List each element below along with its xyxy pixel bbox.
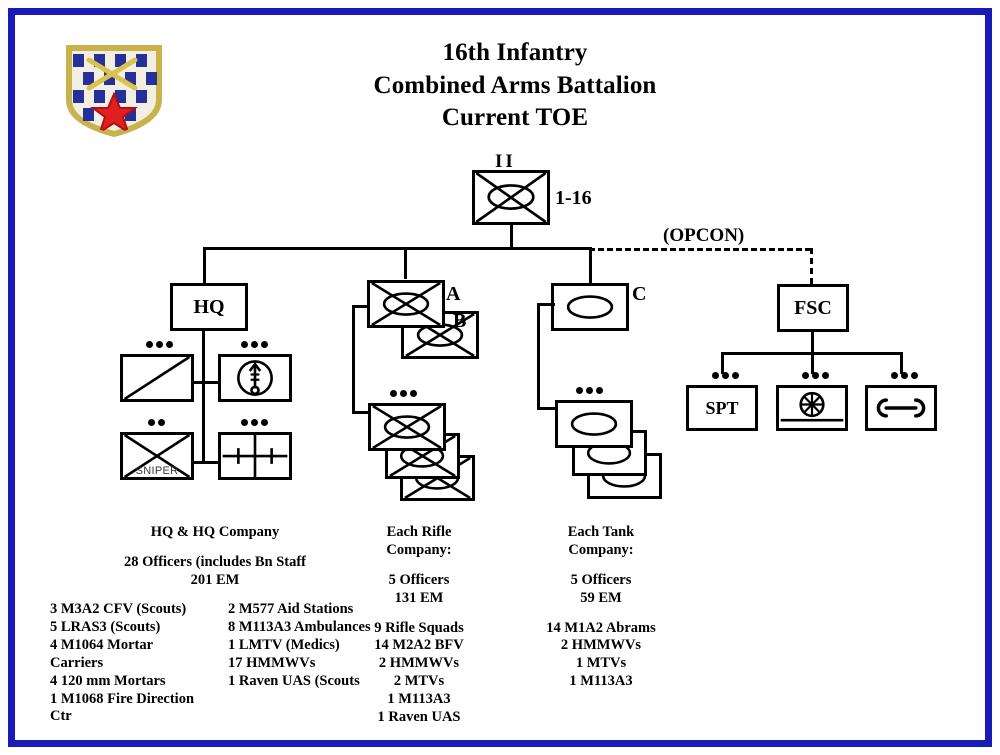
tank-company-c-label: C [632, 283, 646, 306]
list-item: 5 LRAS3 (Scouts) [50, 619, 202, 637]
list-item: 14 M2A2 BFV [355, 637, 483, 655]
dots-sniper-section [148, 419, 165, 426]
rifle-equipment-list: 9 Rifle Squads 14 M2A2 BFV 2 HMMWVs 2 MT… [355, 620, 483, 727]
dots-maintenance-platoon [891, 372, 918, 379]
list-item: 2 MTVs [355, 673, 483, 691]
dots-tank-platoons [576, 387, 603, 394]
support-platoon-label: SPT [689, 388, 755, 428]
connector-opcon-horizontal [589, 248, 811, 251]
rifle-company-b-label: B [453, 310, 466, 333]
tank-company-c-symbol [551, 283, 629, 331]
list-item: 14 M1A2 Abrams [537, 620, 665, 638]
rifle-heading-line-2: Company: [355, 541, 483, 559]
opcon-label: (OPCON) [663, 225, 744, 247]
connector-tank-tick-top [537, 303, 555, 306]
connector-opcon-vertical [810, 248, 813, 284]
tank-platoon-symbol-1 [555, 400, 633, 448]
connector-fsc-drop-1 [721, 352, 724, 374]
list-item: 1 M113A3 [537, 673, 665, 691]
dots-mortar-platoon [241, 341, 268, 348]
battalion-symbol [472, 170, 550, 225]
connector-rifle-spine [352, 305, 355, 413]
dots-signal-section [241, 419, 268, 426]
connector-hq-spine [202, 331, 205, 463]
hq-text-strength: 28 Officers (includes Bn Staff 201 EM [50, 553, 380, 589]
fsc-box: FSC [777, 284, 849, 332]
connector-drop-hq [203, 247, 206, 283]
list-item: 3 M3A2 CFV (Scouts) [50, 601, 202, 619]
dots-transportation-platoon [802, 372, 829, 379]
hq-company-label: HQ [173, 286, 245, 328]
sniper-label: SNIPER [123, 465, 191, 477]
page-title: 16th Infantry Combined Arms Battalion Cu… [285, 37, 745, 135]
rifle-em: 131 EM [355, 589, 483, 607]
list-item: 4 120 mm Mortars [50, 673, 202, 691]
hq-text-heading: HQ & HQ Company [50, 523, 380, 541]
rifle-heading-line-1: Each Rifle [355, 523, 483, 541]
diagram-sheet: 16th Infantry Combined Arms Battalion Cu… [15, 15, 985, 740]
list-item: 1 M1068 Fire Direction Ctr [50, 691, 202, 727]
signal-section-symbol [218, 432, 292, 480]
connector-root-stem [510, 225, 513, 248]
rifle-text-block: Each Rifle Company: 5 Officers 131 EM 9 … [355, 523, 483, 726]
battalion-designation: 1-16 [555, 187, 592, 210]
mortar-platoon-symbol [218, 354, 292, 402]
maintenance-platoon-symbol [865, 385, 937, 431]
unit-insignia [63, 42, 165, 138]
list-item: 1 MTVs [537, 655, 665, 673]
list-item: 4 M1064 Mortar Carriers [50, 637, 202, 673]
support-platoon-box: SPT [686, 385, 758, 431]
sniper-section-symbol: SNIPER [120, 432, 194, 480]
rifle-company-a-symbol [367, 280, 445, 328]
connector-drop-tank [589, 247, 592, 283]
dots-scout-platoon [146, 341, 173, 348]
connector-tank-spine [537, 303, 540, 409]
title-line-2: Combined Arms Battalion [285, 70, 745, 103]
list-item: 2 HMMWVs [537, 637, 665, 655]
scout-platoon-symbol [120, 354, 194, 402]
rifle-platoon-symbol-1 [368, 403, 446, 451]
tank-equipment-list: 14 M1A2 Abrams 2 HMMWVs 1 MTVs 1 M113A3 [537, 620, 665, 691]
connector-fsc-drop-3 [900, 352, 903, 374]
list-item: 1 Raven UAS [355, 709, 483, 727]
list-item: 1 M113A3 [355, 691, 483, 709]
connector-fsc-stem [811, 332, 814, 354]
hq-text-block: HQ & HQ Company 28 Officers (includes Bn… [50, 523, 380, 726]
list-item: 9 Rifle Squads [355, 620, 483, 638]
hq-company-box: HQ [170, 283, 248, 331]
tank-heading-line-2: Company: [537, 541, 665, 559]
tank-text-strength: 5 Officers 59 EM [537, 571, 665, 607]
transportation-platoon-symbol [776, 385, 848, 431]
dots-rifle-platoons [390, 390, 417, 397]
hq-equipment-lists: 3 M3A2 CFV (Scouts) 5 LRAS3 (Scouts) 4 M… [50, 601, 380, 726]
rifle-company-a-label: A [446, 283, 460, 306]
hq-equipment-col-1: 3 M3A2 CFV (Scouts) 5 LRAS3 (Scouts) 4 M… [50, 601, 202, 726]
rifle-officers: 5 Officers [355, 571, 483, 589]
fsc-label: FSC [780, 287, 846, 329]
tank-heading-line-1: Each Tank [537, 523, 665, 541]
connector-fsc-drop-2 [811, 352, 814, 374]
rifle-text-strength: 5 Officers 131 EM [355, 571, 483, 607]
connector-rifle-tick-top [352, 305, 370, 308]
title-line-3: Current TOE [285, 102, 745, 135]
hq-em: 201 EM [50, 571, 380, 589]
tank-text-block: Each Tank Company: 5 Officers 59 EM 14 M… [537, 523, 665, 691]
diagram-canvas: 16th Infantry Combined Arms Battalion Cu… [0, 0, 1000, 755]
title-line-1: 16th Infantry [285, 37, 745, 70]
tank-officers: 5 Officers [537, 571, 665, 589]
rifle-text-heading: Each Rifle Company: [355, 523, 483, 559]
dots-support-platoon [712, 372, 739, 379]
connector-bus [203, 247, 591, 250]
list-item: 2 HMMWVs [355, 655, 483, 673]
connector-drop-rifle [404, 247, 407, 279]
tank-em: 59 EM [537, 589, 665, 607]
page-frame: 16th Infantry Combined Arms Battalion Cu… [8, 8, 992, 747]
hq-officers: 28 Officers (includes Bn Staff [50, 553, 380, 571]
tank-text-heading: Each Tank Company: [537, 523, 665, 559]
